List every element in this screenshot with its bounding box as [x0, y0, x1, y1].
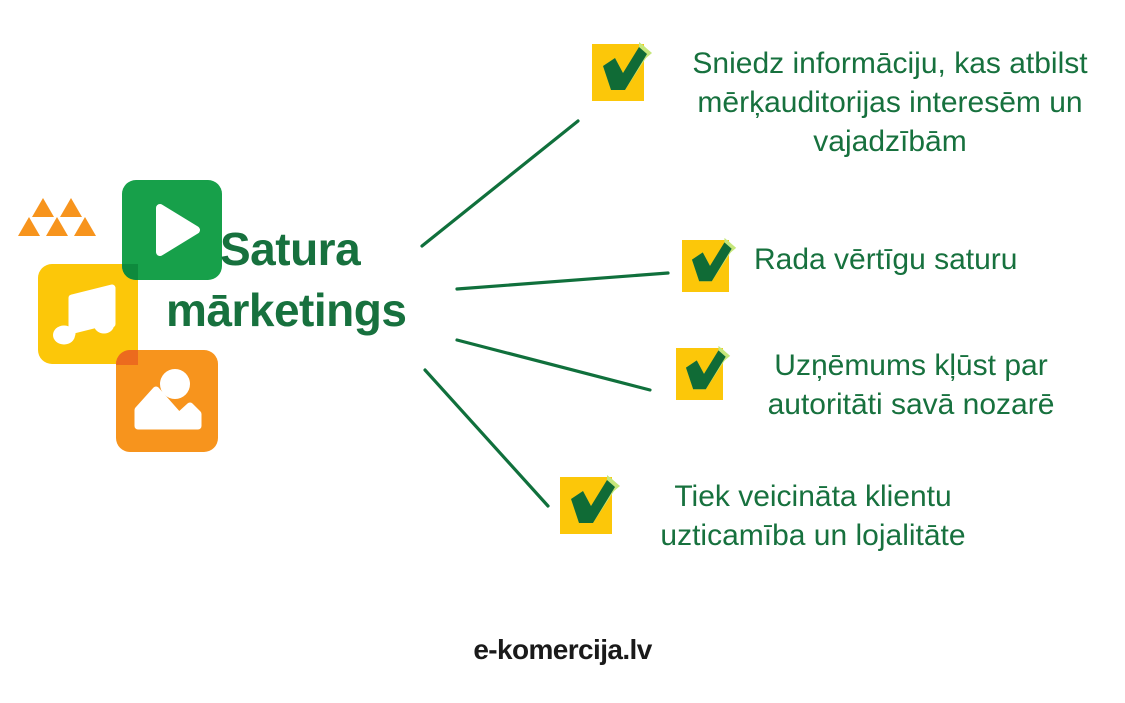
- check-badge-icon: [560, 473, 622, 537]
- connector-line-2: [457, 273, 668, 289]
- infographic-canvas: Satura mārketings Sniedz informāciju, ka…: [0, 0, 1125, 703]
- check-badge-icon: [592, 40, 654, 104]
- connector-line-4: [425, 370, 548, 506]
- check-badge-icon: [676, 344, 732, 402]
- site-watermark: e-komercija.lv: [0, 634, 1125, 666]
- title-line-1: Satura: [166, 219, 466, 280]
- image-picture-icon: [116, 350, 218, 452]
- list-item-label: Uzņēmums kļūst par autoritāti savā nozar…: [746, 346, 1076, 424]
- connector-line-3: [457, 340, 650, 390]
- list-item-label: Tiek veicināta klientu uzticamība un loj…: [638, 477, 988, 555]
- page-title: Satura mārketings: [166, 219, 466, 340]
- list-item: Sniedz informāciju, kas atbilst mērķaudi…: [592, 40, 1110, 161]
- check-badge-icon: [682, 236, 738, 294]
- list-item-label: Sniedz informāciju, kas atbilst mērķaudi…: [670, 44, 1110, 161]
- list-item: Tiek veicināta klientu uzticamība un loj…: [560, 473, 988, 555]
- list-item: Rada vērtīgu saturu: [682, 236, 1017, 294]
- title-line-2: mārketings: [166, 280, 466, 341]
- list-item-label: Rada vērtīgu saturu: [754, 240, 1017, 279]
- list-item: Uzņēmums kļūst par autoritāti savā nozar…: [676, 344, 1076, 424]
